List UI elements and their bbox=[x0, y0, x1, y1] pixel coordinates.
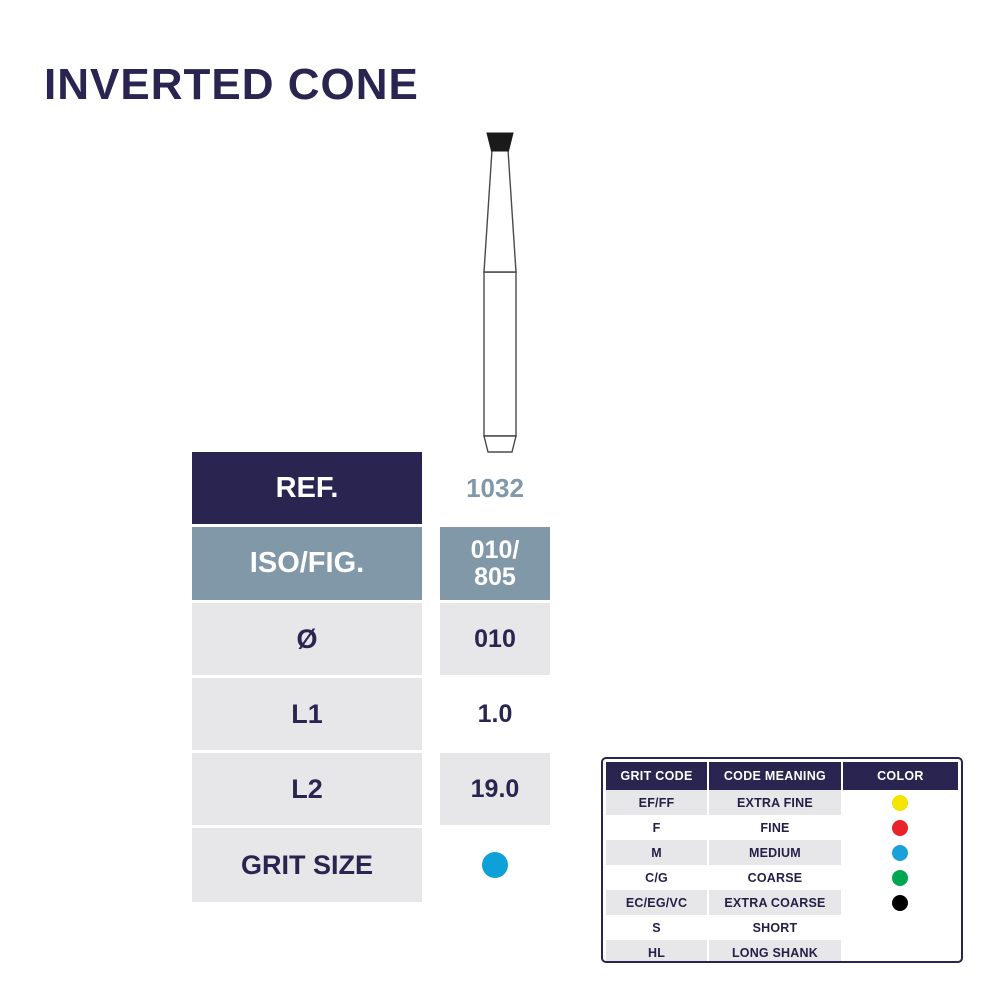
legend-header-grit-code: GRIT CODE bbox=[606, 762, 708, 790]
spec-value-iso: 010/ 805 bbox=[440, 527, 550, 600]
spec-label-grit-size: GRIT SIZE bbox=[192, 828, 422, 902]
legend-cell-meaning: FINE bbox=[708, 815, 842, 840]
spec-label-diameter: Ø bbox=[192, 603, 422, 675]
page-title: INVERTED CONE bbox=[44, 63, 419, 107]
legend-cell-color bbox=[842, 865, 958, 890]
grit-code-legend: GRIT CODE CODE MEANING COLOR EF/FFEXTRA … bbox=[601, 757, 963, 963]
spec-value-grit-size bbox=[440, 828, 550, 902]
legend-color-dot bbox=[892, 820, 908, 836]
legend-table: GRIT CODE CODE MEANING COLOR EF/FFEXTRA … bbox=[606, 762, 958, 963]
legend-cell-color bbox=[842, 815, 958, 840]
legend-cell-color bbox=[842, 890, 958, 915]
legend-row: MMEDIUM bbox=[606, 840, 958, 865]
legend-row: SSHORT bbox=[606, 915, 958, 940]
legend-body: EF/FFEXTRA FINEFFINEMMEDIUMC/GCOARSEEC/E… bbox=[606, 790, 958, 963]
spec-label-iso: ISO/FIG. bbox=[192, 527, 422, 600]
legend-cell-code: F bbox=[606, 815, 708, 840]
legend-color-dot bbox=[892, 895, 908, 911]
legend-cell-meaning: COARSE bbox=[708, 865, 842, 890]
spec-value-l2: 19.0 bbox=[440, 753, 550, 825]
spec-row-l2: L2 19.0 bbox=[192, 753, 550, 825]
legend-cell-meaning: EXTRA COARSE bbox=[708, 890, 842, 915]
legend-cell-code: HL bbox=[606, 940, 708, 963]
legend-header-color: COLOR bbox=[842, 762, 958, 790]
legend-cell-meaning: LONG SHANK bbox=[708, 940, 842, 963]
legend-cell-meaning: MEDIUM bbox=[708, 840, 842, 865]
legend-cell-code: M bbox=[606, 840, 708, 865]
legend-color-dot bbox=[892, 870, 908, 886]
legend-cell-meaning: SHORT bbox=[708, 915, 842, 940]
legend-row: FFINE bbox=[606, 815, 958, 840]
inverted-cone-bur-illustration bbox=[440, 130, 560, 470]
legend-cell-code: EC/EG/VC bbox=[606, 890, 708, 915]
legend-row: EC/EG/VCEXTRA COARSE bbox=[606, 890, 958, 915]
spec-label-l1: L1 bbox=[192, 678, 422, 750]
spec-value-iso-line2: 805 bbox=[471, 564, 520, 591]
specification-table: REF. 1032 ISO/FIG. 010/ 805 Ø 010 L1 1.0… bbox=[192, 452, 550, 905]
legend-cell-code: S bbox=[606, 915, 708, 940]
legend-cell-color bbox=[842, 790, 958, 815]
legend-row: HLLONG SHANK bbox=[606, 940, 958, 963]
legend-cell-code: C/G bbox=[606, 865, 708, 890]
legend-header-row: GRIT CODE CODE MEANING COLOR bbox=[606, 762, 958, 790]
spec-label-ref: REF. bbox=[192, 452, 422, 524]
legend-color-dot bbox=[892, 795, 908, 811]
legend-row: C/GCOARSE bbox=[606, 865, 958, 890]
spec-value-diameter: 010 bbox=[440, 603, 550, 675]
legend-cell-color bbox=[842, 940, 958, 963]
spec-row-l1: L1 1.0 bbox=[192, 678, 550, 750]
spec-value-ref: 1032 bbox=[440, 452, 550, 524]
legend-cell-code: EF/FF bbox=[606, 790, 708, 815]
legend-cell-color bbox=[842, 915, 958, 940]
spec-row-iso: ISO/FIG. 010/ 805 bbox=[192, 527, 550, 600]
grit-size-color-dot bbox=[482, 852, 508, 878]
legend-header-code-meaning: CODE MEANING bbox=[708, 762, 842, 790]
spec-label-l2: L2 bbox=[192, 753, 422, 825]
legend-color-dot bbox=[892, 845, 908, 861]
spec-row-ref: REF. 1032 bbox=[192, 452, 550, 524]
spec-value-l1: 1.0 bbox=[440, 678, 550, 750]
spec-value-iso-line1: 010/ bbox=[471, 537, 520, 564]
spec-row-grit-size: GRIT SIZE bbox=[192, 828, 550, 902]
spec-row-diameter: Ø 010 bbox=[192, 603, 550, 675]
legend-cell-meaning: EXTRA FINE bbox=[708, 790, 842, 815]
legend-cell-color bbox=[842, 840, 958, 865]
legend-row: EF/FFEXTRA FINE bbox=[606, 790, 958, 815]
